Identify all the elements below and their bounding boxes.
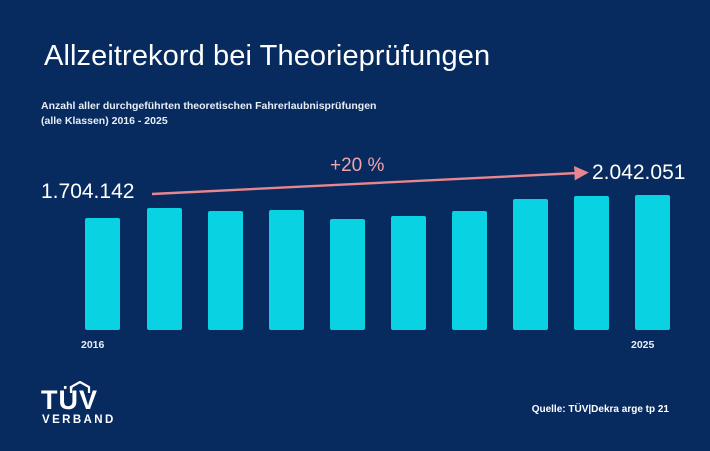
value-label-start: 1.704.142 (41, 180, 134, 204)
bar-2017 (147, 208, 182, 330)
bar-2020 (330, 219, 365, 330)
bar-2024 (574, 196, 609, 330)
tuv-verband-logo: TÜV VERBAND (41, 381, 161, 427)
x-axis-label-end: 2025 (631, 339, 654, 351)
value-label-end: 2.042.051 (592, 161, 685, 185)
growth-percentage-label: +20 % (330, 155, 384, 177)
source-credit: Quelle: TÜV|Dekra arge tp 21 (532, 404, 669, 415)
bar-2025 (635, 195, 670, 330)
bar-2019 (269, 210, 304, 330)
logo-wordmark: TÜV (41, 387, 98, 414)
x-axis-label-start: 2016 (81, 339, 104, 351)
bar-2023 (513, 199, 548, 330)
logo-subtitle: VERBAND (42, 414, 116, 426)
bar-2018 (208, 211, 243, 330)
bar-2022 (452, 211, 487, 330)
bar-2021 (391, 216, 426, 330)
bar-2016 (85, 218, 120, 330)
infographic-canvas: Allzeitrekord bei Theorieprüfungen Anzah… (0, 0, 710, 451)
